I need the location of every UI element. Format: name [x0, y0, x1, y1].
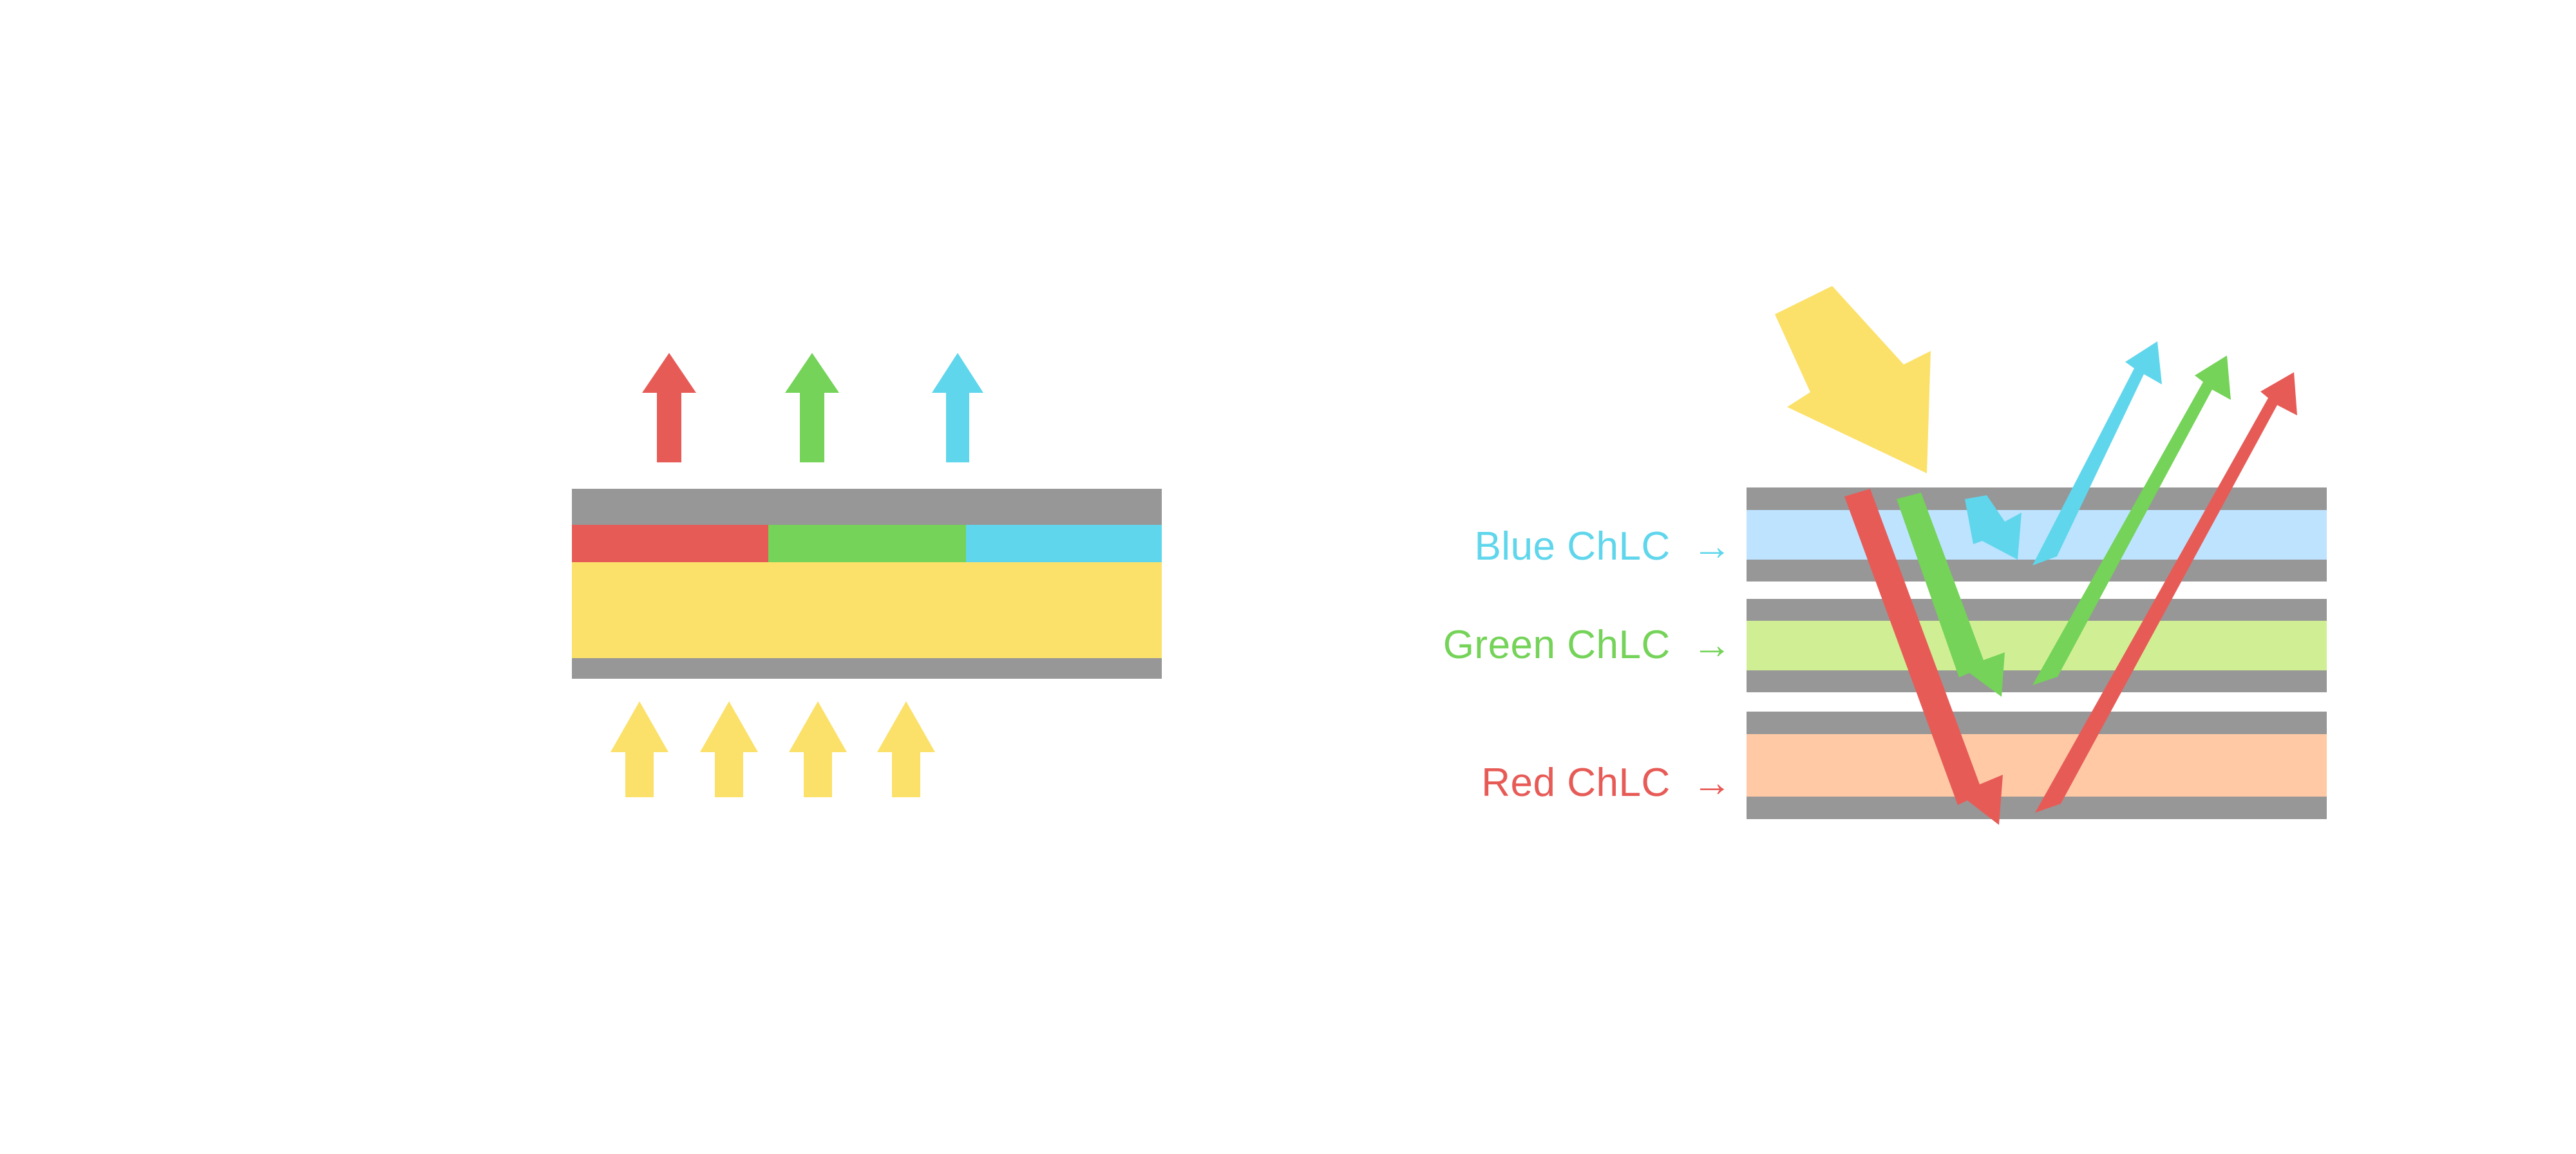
label-red-chlc-arrow-icon: → — [1692, 763, 1733, 803]
label-blue-chlc-text: Blue ChLC — [1474, 527, 1670, 567]
blue-chlc-layer — [1747, 510, 2327, 560]
red-chlc-layer — [1747, 734, 2327, 797]
label-red-chlc: Red ChLC → — [1481, 763, 1732, 803]
red-cell-top-electrode — [1747, 712, 2327, 734]
label-green-chlc-text: Green ChLC — [1443, 625, 1671, 665]
label-green-chlc: Green ChLC → — [1443, 625, 1732, 665]
right-stack-layers-group — [1747, 487, 2327, 819]
label-red-chlc-text: Red ChLC — [1481, 763, 1670, 803]
green-chlc-layer — [1747, 621, 2327, 670]
blue-cell-top-electrode — [1747, 487, 2327, 510]
right-panel-reflective-stack — [0, 0, 2576, 1154]
label-green-chlc-arrow-icon: → — [1692, 625, 1733, 665]
diagram-root: Blue ChLC → Green ChLC → Red ChLC → — [0, 0, 2576, 1154]
label-blue-chlc-arrow-icon: → — [1692, 527, 1733, 567]
red-cell-bottom-electrode — [1747, 797, 2327, 819]
white-light-incident-arrow — [1775, 286, 1931, 473]
green-cell-top-electrode — [1747, 599, 2327, 621]
label-blue-chlc: Blue ChLC → — [1474, 527, 1732, 567]
